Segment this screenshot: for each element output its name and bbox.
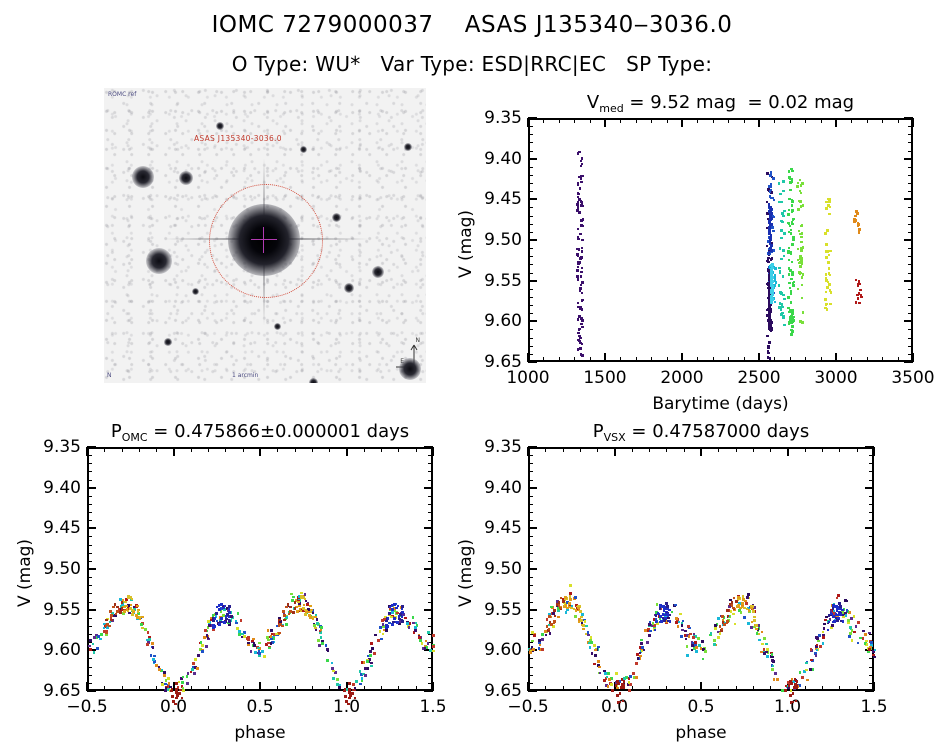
data-point bbox=[124, 601, 127, 604]
y-axis-minor-tick bbox=[87, 553, 92, 554]
data-point bbox=[788, 322, 791, 325]
data-point bbox=[827, 261, 830, 264]
data-point bbox=[800, 184, 803, 187]
data-point bbox=[549, 632, 552, 635]
x-axis-minor-tick bbox=[728, 357, 729, 362]
y-axis-minor-tick bbox=[528, 256, 533, 257]
data-point bbox=[789, 287, 792, 290]
data-point bbox=[289, 606, 292, 609]
x-axis-tick bbox=[835, 353, 837, 362]
data-point bbox=[427, 642, 430, 645]
data-point bbox=[857, 225, 860, 228]
data-point bbox=[760, 651, 763, 654]
data-point bbox=[582, 624, 585, 627]
data-point bbox=[581, 343, 584, 346]
x-axis-minor-tick bbox=[857, 447, 858, 452]
data-point bbox=[801, 249, 804, 252]
x-axis-tick bbox=[758, 118, 760, 127]
data-point bbox=[799, 265, 802, 268]
x-axis-minor-tick bbox=[574, 357, 575, 362]
data-point bbox=[784, 689, 787, 692]
y-axis-tick bbox=[424, 609, 433, 611]
data-point bbox=[565, 605, 568, 608]
data-point bbox=[331, 667, 334, 670]
data-point bbox=[675, 621, 678, 624]
data-point bbox=[623, 684, 626, 687]
y-axis-minor-tick bbox=[528, 480, 533, 481]
y-axis-minor-tick bbox=[528, 626, 533, 627]
data-point bbox=[268, 647, 271, 650]
data-point bbox=[388, 612, 391, 615]
data-point bbox=[580, 353, 583, 356]
data-point bbox=[243, 635, 246, 638]
y-axis-minor-tick bbox=[528, 207, 533, 208]
data-point bbox=[412, 622, 415, 625]
y-axis-minor-tick bbox=[87, 463, 92, 464]
y-axis-tick bbox=[904, 239, 913, 241]
data-point bbox=[380, 638, 383, 641]
data-point bbox=[578, 211, 581, 214]
x-axis-title: phase bbox=[528, 723, 874, 743]
data-point bbox=[628, 689, 631, 692]
x-axis-minor-tick bbox=[851, 357, 852, 362]
data-point bbox=[865, 640, 868, 643]
x-axis-minor-tick bbox=[898, 357, 899, 362]
y-axis-tick bbox=[87, 568, 96, 570]
y-axis-minor-tick bbox=[428, 593, 433, 594]
y-axis-minor-tick bbox=[528, 183, 533, 184]
data-point bbox=[816, 649, 819, 652]
data-point bbox=[429, 649, 432, 652]
x-axis-tick bbox=[835, 118, 837, 127]
data-point bbox=[753, 619, 756, 622]
data-point bbox=[769, 186, 772, 189]
data-point bbox=[732, 607, 735, 610]
data-point bbox=[155, 664, 158, 667]
y-axis-title: V (mag) bbox=[15, 539, 35, 607]
x-axis-minor-tick bbox=[104, 686, 105, 691]
data-point bbox=[204, 629, 207, 632]
y-axis-minor-tick bbox=[428, 512, 433, 513]
data-point bbox=[832, 621, 835, 624]
data-point bbox=[258, 650, 261, 653]
x-axis-minor-tick bbox=[381, 686, 382, 691]
data-point bbox=[791, 223, 794, 226]
data-point bbox=[836, 597, 839, 600]
y-axis-minor-tick bbox=[528, 512, 533, 513]
data-point bbox=[252, 638, 255, 641]
data-point bbox=[300, 595, 303, 598]
data-point bbox=[767, 352, 770, 355]
data-point bbox=[810, 659, 813, 662]
data-point bbox=[553, 621, 556, 624]
y-axis-minor-tick bbox=[908, 175, 913, 176]
data-point bbox=[261, 650, 264, 653]
x-axis-minor-tick bbox=[191, 686, 192, 691]
x-axis-title: phase bbox=[87, 723, 433, 743]
data-point bbox=[354, 697, 357, 700]
data-point bbox=[175, 682, 178, 685]
data-point bbox=[582, 218, 585, 221]
data-point bbox=[237, 612, 240, 615]
y-axis-tick bbox=[865, 690, 874, 692]
x-axis-minor-tick bbox=[651, 357, 652, 362]
y-axis-minor-tick bbox=[87, 577, 92, 578]
data-point bbox=[105, 624, 108, 627]
x-axis-minor-tick bbox=[684, 686, 685, 691]
data-point bbox=[694, 641, 697, 644]
y-axis-minor-tick bbox=[869, 536, 874, 537]
y-axis-minor-tick bbox=[528, 667, 533, 668]
x-axis-minor-tick bbox=[543, 118, 544, 123]
data-point bbox=[266, 636, 269, 639]
x-axis-minor-tick bbox=[744, 357, 745, 362]
data-point bbox=[550, 606, 553, 609]
y-axis-tick bbox=[424, 487, 433, 489]
x-axis-minor-tick bbox=[295, 447, 296, 452]
data-point bbox=[828, 267, 831, 270]
data-point bbox=[662, 605, 665, 608]
data-point bbox=[789, 318, 792, 321]
y-axis-minor-tick bbox=[528, 455, 533, 456]
x-axis-minor-tick bbox=[790, 118, 791, 123]
data-point bbox=[682, 620, 685, 623]
data-point bbox=[755, 628, 758, 631]
data-point bbox=[798, 200, 801, 203]
x-axis-minor-tick bbox=[851, 118, 852, 123]
data-point bbox=[577, 228, 580, 231]
data-point bbox=[212, 620, 215, 623]
y-axis-minor-tick bbox=[87, 480, 92, 481]
y-axis-minor-tick bbox=[528, 520, 533, 521]
data-point bbox=[181, 697, 184, 700]
data-point bbox=[830, 612, 833, 615]
data-point bbox=[285, 606, 288, 609]
data-point bbox=[753, 606, 756, 609]
y-axis-minor-tick bbox=[428, 561, 433, 562]
y-axis-minor-tick bbox=[87, 658, 92, 659]
data-point bbox=[131, 609, 134, 612]
x-axis-minor-tick bbox=[805, 447, 806, 452]
data-point bbox=[789, 309, 792, 312]
y-axis-minor-tick bbox=[869, 504, 874, 505]
data-point bbox=[179, 689, 182, 692]
data-point bbox=[194, 658, 197, 661]
x-axis-minor-tick bbox=[667, 357, 668, 362]
panel-title: PVSX = 0.47587000 days bbox=[468, 421, 934, 442]
data-point bbox=[846, 609, 849, 612]
x-axis-tick-label: 1.0 bbox=[756, 697, 820, 717]
x-axis-minor-tick bbox=[597, 686, 598, 691]
data-point bbox=[594, 654, 597, 657]
x-axis-minor-tick bbox=[882, 118, 883, 123]
data-point bbox=[780, 230, 783, 233]
data-point bbox=[752, 610, 755, 613]
data-point bbox=[862, 637, 865, 640]
data-point bbox=[147, 631, 150, 634]
field-star bbox=[192, 288, 199, 295]
data-point bbox=[273, 637, 276, 640]
data-point bbox=[779, 193, 782, 196]
data-point bbox=[801, 224, 804, 227]
y-axis-tick-label: 9.35 bbox=[470, 437, 522, 457]
x-axis-minor-tick bbox=[651, 118, 652, 123]
data-point bbox=[663, 609, 666, 612]
data-point bbox=[828, 213, 831, 216]
y-axis-minor-tick bbox=[908, 216, 913, 217]
x-axis-minor-tick bbox=[774, 357, 775, 362]
data-point bbox=[218, 604, 221, 607]
data-point bbox=[669, 620, 672, 623]
data-point bbox=[432, 634, 435, 637]
x-axis-minor-tick bbox=[156, 447, 157, 452]
y-axis-minor-tick bbox=[87, 634, 92, 635]
data-point bbox=[855, 301, 858, 304]
y-axis-minor-tick bbox=[428, 577, 433, 578]
data-point bbox=[792, 282, 795, 285]
data-point bbox=[774, 301, 777, 304]
data-point bbox=[579, 187, 582, 190]
data-point bbox=[89, 639, 92, 642]
data-point bbox=[253, 644, 256, 647]
data-point bbox=[779, 302, 782, 305]
data-point bbox=[774, 672, 777, 675]
x-axis-tick bbox=[681, 353, 683, 362]
y-axis-title: V (mag) bbox=[456, 210, 476, 278]
data-point bbox=[772, 177, 775, 180]
y-axis-minor-tick bbox=[87, 667, 92, 668]
data-point bbox=[692, 636, 695, 639]
data-point bbox=[577, 192, 580, 195]
data-point bbox=[553, 609, 556, 612]
data-point bbox=[250, 650, 253, 653]
data-point bbox=[395, 621, 398, 624]
y-axis-tick bbox=[424, 568, 433, 570]
data-point bbox=[174, 703, 177, 706]
y-axis-minor-tick bbox=[908, 224, 913, 225]
data-point bbox=[310, 610, 313, 613]
data-point bbox=[257, 647, 260, 650]
y-axis-minor-tick bbox=[528, 313, 533, 314]
data-point bbox=[161, 683, 164, 686]
y-axis-minor-tick bbox=[428, 585, 433, 586]
data-point bbox=[167, 677, 170, 680]
data-point bbox=[230, 615, 233, 618]
y-axis-minor-tick bbox=[87, 504, 92, 505]
data-point bbox=[391, 608, 394, 611]
data-point bbox=[127, 595, 130, 598]
y-axis-minor-tick bbox=[528, 463, 533, 464]
y-axis-tick bbox=[528, 320, 537, 322]
y-axis-tick-label: 9.65 bbox=[470, 681, 522, 701]
data-point bbox=[593, 644, 596, 647]
data-point bbox=[826, 250, 829, 253]
data-point bbox=[792, 238, 795, 241]
data-point bbox=[141, 616, 144, 619]
y-axis-minor-tick bbox=[528, 602, 533, 603]
x-axis-minor-tick bbox=[243, 447, 244, 452]
data-point bbox=[816, 637, 819, 640]
data-point bbox=[797, 259, 800, 262]
data-point bbox=[115, 613, 118, 616]
y-axis-minor-tick bbox=[87, 512, 92, 513]
x-axis-minor-tick bbox=[243, 686, 244, 691]
data-point bbox=[201, 650, 204, 653]
data-point bbox=[783, 324, 786, 327]
data-point bbox=[778, 284, 781, 287]
y-axis-minor-tick bbox=[908, 338, 913, 339]
y-axis-minor-tick bbox=[528, 553, 533, 554]
y-axis-minor-tick bbox=[528, 346, 533, 347]
x-axis-minor-tick bbox=[208, 686, 209, 691]
y-axis-minor-tick bbox=[428, 618, 433, 619]
data-point bbox=[774, 279, 777, 282]
data-point bbox=[721, 615, 724, 618]
data-point bbox=[618, 701, 621, 704]
y-axis-tick bbox=[865, 446, 874, 448]
data-point bbox=[401, 605, 404, 608]
data-point bbox=[320, 629, 323, 632]
data-point bbox=[647, 628, 650, 631]
y-axis-tick bbox=[528, 487, 537, 489]
x-axis-minor-tick bbox=[821, 357, 822, 362]
data-point bbox=[529, 651, 532, 654]
data-point bbox=[792, 692, 795, 695]
data-point bbox=[408, 626, 411, 629]
y-axis-minor-tick bbox=[87, 471, 92, 472]
data-point bbox=[220, 617, 223, 620]
data-point bbox=[677, 625, 680, 628]
data-point bbox=[773, 678, 776, 681]
y-axis-tick bbox=[424, 690, 433, 692]
data-point bbox=[795, 686, 798, 689]
x-axis-tick-label: 0.5 bbox=[669, 697, 733, 717]
data-point bbox=[541, 633, 544, 636]
data-point bbox=[782, 275, 785, 278]
data-point bbox=[137, 610, 140, 613]
data-point bbox=[182, 687, 185, 690]
x-axis-minor-tick bbox=[713, 357, 714, 362]
y-axis-tick bbox=[424, 446, 433, 448]
data-point bbox=[359, 670, 362, 673]
x-axis-minor-tick bbox=[822, 686, 823, 691]
y-axis-minor-tick bbox=[428, 455, 433, 456]
data-point bbox=[121, 607, 124, 610]
data-point bbox=[857, 642, 860, 645]
x-axis-minor-tick bbox=[559, 357, 560, 362]
data-point bbox=[853, 218, 856, 221]
data-point bbox=[171, 688, 174, 691]
y-axis-minor-tick bbox=[908, 232, 913, 233]
data-point bbox=[697, 637, 700, 640]
x-axis-minor-tick bbox=[398, 447, 399, 452]
data-point bbox=[278, 624, 281, 627]
data-point bbox=[406, 622, 409, 625]
y-axis-minor-tick bbox=[869, 667, 874, 668]
data-point bbox=[531, 640, 534, 643]
data-point bbox=[796, 185, 799, 188]
data-point bbox=[364, 674, 367, 677]
data-point bbox=[116, 606, 119, 609]
data-point bbox=[858, 302, 861, 305]
data-point bbox=[790, 290, 793, 293]
data-point bbox=[855, 211, 858, 214]
y-axis-minor-tick bbox=[528, 338, 533, 339]
data-point bbox=[320, 636, 323, 639]
x-axis-minor-tick bbox=[139, 447, 140, 452]
data-point bbox=[577, 206, 580, 209]
data-point bbox=[790, 278, 793, 281]
data-point bbox=[727, 615, 730, 618]
x-axis-minor-tick bbox=[620, 118, 621, 123]
x-axis-minor-tick bbox=[774, 118, 775, 123]
data-point bbox=[135, 614, 138, 617]
data-point bbox=[780, 308, 783, 311]
data-point bbox=[361, 677, 364, 680]
data-point bbox=[797, 208, 800, 211]
data-point bbox=[789, 189, 792, 192]
data-point bbox=[369, 650, 372, 653]
data-point bbox=[797, 288, 800, 291]
data-point bbox=[783, 232, 786, 235]
data-point bbox=[414, 626, 417, 629]
y-axis-minor-tick bbox=[87, 455, 92, 456]
field-star bbox=[404, 143, 412, 151]
data-point bbox=[100, 633, 103, 636]
data-point bbox=[258, 642, 261, 645]
data-point bbox=[577, 269, 580, 272]
data-point bbox=[373, 652, 376, 655]
data-point bbox=[545, 634, 548, 637]
data-point bbox=[714, 627, 717, 630]
data-point bbox=[637, 657, 640, 660]
data-point bbox=[663, 619, 666, 622]
data-point bbox=[824, 232, 827, 235]
y-axis-minor-tick bbox=[869, 480, 874, 481]
data-point bbox=[382, 623, 385, 626]
y-axis-minor-tick bbox=[428, 496, 433, 497]
x-axis-minor-tick bbox=[590, 357, 591, 362]
y-axis-minor-tick bbox=[87, 520, 92, 521]
data-point bbox=[190, 671, 193, 674]
data-point bbox=[404, 617, 407, 620]
data-point bbox=[791, 211, 794, 214]
x-axis-minor-tick bbox=[545, 447, 546, 452]
data-point bbox=[93, 636, 96, 639]
data-point bbox=[776, 678, 779, 681]
data-point bbox=[610, 683, 613, 686]
data-point bbox=[825, 201, 828, 204]
data-point bbox=[835, 605, 838, 608]
data-point bbox=[831, 624, 834, 627]
data-point bbox=[212, 628, 215, 631]
data-point bbox=[859, 289, 862, 292]
data-point bbox=[579, 290, 582, 293]
data-point bbox=[648, 623, 651, 626]
data-point bbox=[370, 642, 373, 645]
y-axis-minor-tick bbox=[528, 577, 533, 578]
y-axis-tick bbox=[865, 568, 874, 570]
data-point bbox=[799, 671, 802, 674]
data-point bbox=[792, 321, 795, 324]
y-axis-minor-tick bbox=[87, 496, 92, 497]
data-point bbox=[771, 653, 774, 656]
y-axis-minor-tick bbox=[428, 626, 433, 627]
x-axis-minor-tick bbox=[225, 686, 226, 691]
data-point bbox=[787, 307, 790, 310]
x-axis-minor-tick bbox=[597, 447, 598, 452]
y-axis-minor-tick bbox=[87, 618, 92, 619]
